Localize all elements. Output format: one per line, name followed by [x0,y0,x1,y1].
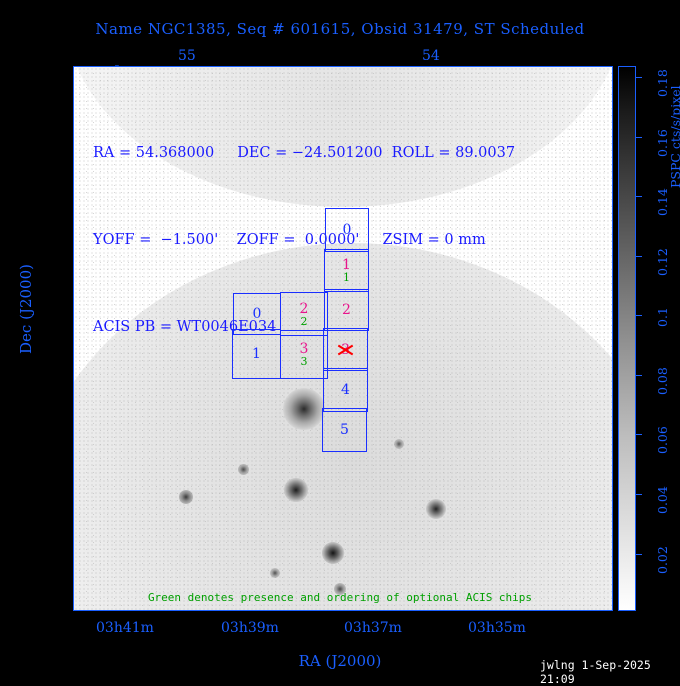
colorbar-label-3: 0.08 [655,367,670,395]
top-axis-tick-55: 55 [178,48,196,64]
intensity-colorbar [618,66,636,611]
source-g [270,568,280,578]
chip-s1[interactable]: 1 1 [324,249,369,292]
ra-tick-2: 03h37m [344,620,402,636]
source-d [179,490,193,504]
chip-s3-excluded-cross-icon [337,341,354,358]
chip-i3[interactable]: 3 3 [280,330,328,379]
chip-i2-optional-order: 2 [300,316,307,327]
chip-s4[interactable]: 4 [323,368,368,412]
colorbar-tick-7 [636,137,642,138]
source-c [426,499,446,519]
generation-stamp: jwlng 1-Sep-2025 21:09 [540,658,680,686]
colorbar-label-2: 0.06 [655,426,670,454]
source-a [284,478,308,502]
chip-i1[interactable]: 1 [232,329,281,379]
colorbar-label-0: 0.02 [655,546,670,574]
chip-s0[interactable]: 0 [325,208,369,252]
ra-tick-1: 03h39m [221,620,279,636]
colorbar-label-1: 0.04 [655,486,670,514]
colorbar-tick-1 [636,494,642,495]
chip-i3-label: 3 [300,342,309,356]
colorbar-tick-3 [636,375,642,376]
colorbar-tick-2 [636,434,642,435]
chip-i1-label: 1 [252,347,261,361]
chip-s4-label: 4 [341,383,350,397]
chip-s2-label: 2 [342,303,351,317]
colorbar-label-4: 0.1 [655,307,670,327]
chip-i2-label: 2 [300,302,309,316]
ra-tick-3: 03h35m [468,620,526,636]
colorbar-tick-5 [636,256,642,257]
source-e [238,464,249,475]
chip-s0-label: 0 [343,223,352,237]
chip-s1-label: 1 [342,258,351,272]
colorbar-tick-0 [636,554,642,555]
observation-plot-window: Name NGC1385, Seq # 601615, Obsid 31479,… [0,0,680,680]
chip-i0-label: 0 [253,307,262,321]
top-axis-tick-54: 54 [422,48,440,64]
colorbar-axis-label: PSPC cts/s/pixel [668,85,680,188]
source-b [322,542,344,564]
page-title: Name NGC1385, Seq # 601615, Obsid 31479,… [0,20,680,38]
dec-axis-title: Dec (J2000) [17,239,35,379]
colorbar-tick-4 [636,315,642,316]
chip-s5-label: 5 [340,423,349,437]
colorbar-label-6: 0.14 [655,188,670,216]
colorbar-tick-8 [636,77,642,78]
chip-s5[interactable]: 5 [322,408,367,452]
source-h [394,439,404,449]
optional-chips-legend: Green denotes presence and ordering of o… [0,591,680,604]
colorbar-tick-6 [636,196,642,197]
param-line-ra-dec-roll: RA = 54.368000 DEC = −24.501200 ROLL = 8… [93,139,515,168]
colorbar-label-5: 0.12 [655,248,670,276]
chip-s3[interactable]: 3 [323,328,368,371]
ra-tick-0: 03h41m [96,620,154,636]
chip-i3-optional-order: 3 [300,356,307,367]
chip-s2[interactable]: 2 [324,289,369,331]
chip-s1-optional-order: 1 [343,272,350,283]
sky-image-plot[interactable]: RA = 54.368000 DEC = −24.501200 ROLL = 8… [73,66,613,611]
param-line-offsets: YOFF = −1.500' ZOFF = 0.0000' ZSIM = 0 m… [93,226,515,255]
